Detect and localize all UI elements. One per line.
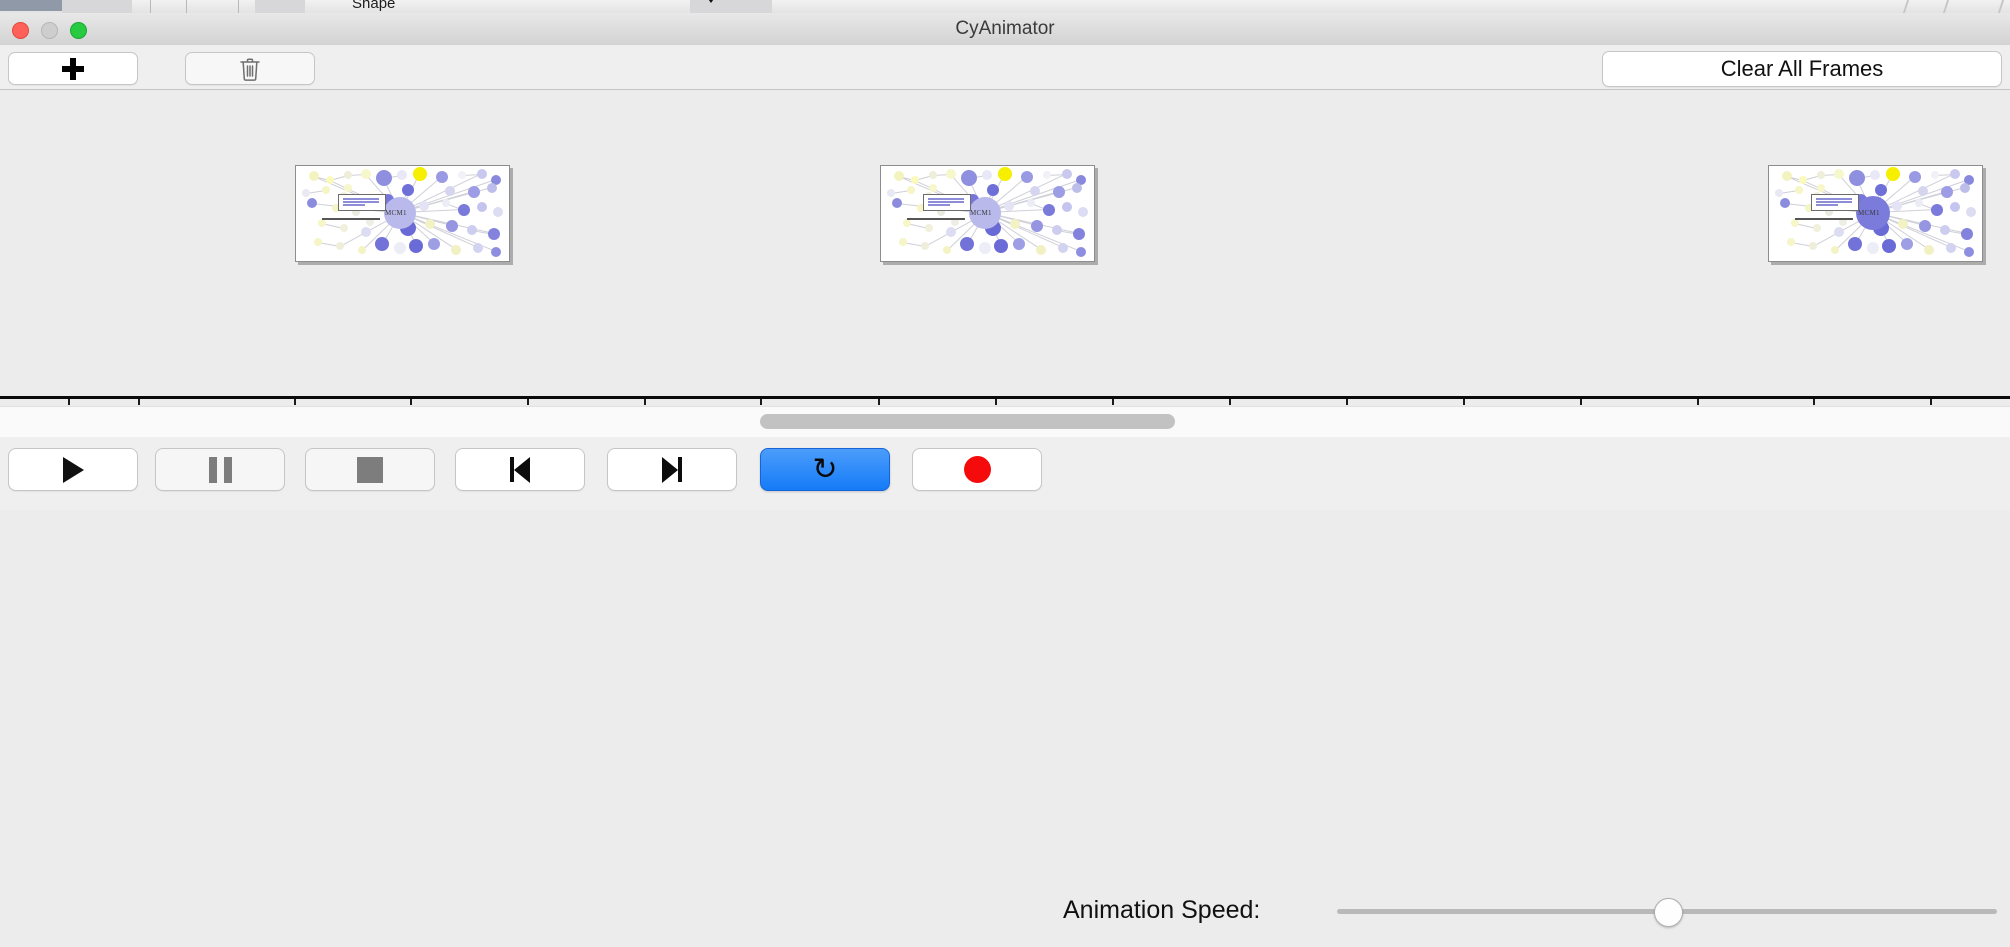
graph-node	[361, 169, 371, 179]
axis-tick-minor	[410, 399, 412, 405]
background-divider	[150, 0, 151, 13]
timeline-panel[interactable]: 2131415161718 Seconds MCM1MCM1MCM1	[0, 90, 2010, 405]
graph-node	[477, 169, 487, 179]
graph-node	[493, 207, 503, 217]
graph-node	[892, 198, 902, 208]
graph-callout	[1811, 194, 1859, 211]
pause-icon	[209, 457, 232, 483]
graph-node	[309, 171, 319, 181]
stop-button[interactable]	[305, 448, 435, 491]
background-window-chunk	[62, 0, 132, 13]
graph-node	[425, 219, 435, 229]
graph-callout	[338, 194, 386, 211]
play-button[interactable]	[8, 448, 138, 491]
graph-node	[1931, 171, 1939, 179]
graph-node	[1004, 201, 1014, 211]
callout-text-line	[928, 201, 964, 203]
keyframe-thumbnail[interactable]: MCM1	[880, 165, 1095, 262]
graph-node	[1924, 245, 1934, 255]
graph-node	[1961, 228, 1973, 240]
skip-forward-icon	[662, 457, 682, 483]
graph-node	[413, 167, 427, 181]
graph-node	[1058, 243, 1068, 253]
background-window-chunk	[255, 0, 305, 13]
graph-node	[1919, 220, 1931, 232]
transport-bar: ↻ Animation Speed:	[0, 437, 2010, 510]
graph-node	[1901, 238, 1913, 250]
graph-node	[344, 184, 352, 192]
graph-annotation	[907, 218, 965, 220]
graph-node	[961, 170, 977, 186]
graph-node	[946, 227, 956, 237]
graph-node	[1062, 202, 1072, 212]
graph-node	[451, 245, 461, 255]
graph-node	[943, 246, 951, 254]
graph-hub-label: MCM1	[1858, 209, 1880, 217]
network-graph: MCM1	[881, 166, 1094, 261]
axis-tick-minor	[1930, 399, 1932, 405]
timeline-scrollbar[interactable]	[0, 406, 2010, 438]
graph-node	[436, 171, 448, 183]
graph-node	[491, 247, 501, 257]
graph-node	[394, 242, 406, 254]
axis-tick-major	[995, 399, 997, 405]
axis-tick-minor	[644, 399, 646, 405]
graph-node	[1053, 186, 1065, 198]
graph-node	[446, 220, 458, 232]
background-divider	[1943, 0, 1949, 13]
graph-node	[340, 224, 348, 232]
graph-node	[1950, 202, 1960, 212]
title-bar[interactable]: CyAnimator	[0, 13, 2010, 46]
graph-node	[1909, 171, 1921, 183]
graph-node	[1918, 186, 1928, 196]
graph-node	[1052, 225, 1062, 235]
graph-node	[987, 184, 999, 196]
graph-node	[428, 238, 440, 250]
background-window-chunk	[690, 0, 772, 13]
graph-node	[1834, 227, 1844, 237]
graph-node	[929, 171, 937, 179]
graph-annotation	[1795, 218, 1853, 220]
graph-node	[1031, 220, 1043, 232]
graph-node	[1886, 167, 1900, 181]
graph-node	[1848, 237, 1862, 251]
graph-node	[1021, 171, 1033, 183]
graph-node	[1849, 170, 1865, 186]
graph-node	[1030, 186, 1040, 196]
graph-node	[1078, 207, 1088, 217]
axis-tick-major	[760, 399, 762, 405]
graph-node	[1940, 225, 1950, 235]
graph-node	[998, 167, 1012, 181]
skip-back-icon	[510, 457, 530, 483]
axis-tick-major	[1697, 399, 1699, 405]
graph-node	[473, 243, 483, 253]
graph-node	[894, 171, 904, 181]
graph-node	[361, 227, 371, 237]
graph-node	[994, 239, 1008, 253]
graph-node	[336, 242, 344, 250]
graph-node	[326, 176, 334, 184]
window-title: CyAnimator	[0, 13, 2010, 45]
callout-text-line	[1816, 198, 1852, 200]
graph-node	[1875, 184, 1887, 196]
graph-node	[458, 171, 466, 179]
record-button[interactable]	[912, 448, 1042, 491]
graph-node	[318, 219, 326, 227]
axis-tick-minor	[878, 399, 880, 405]
graph-node	[1799, 176, 1807, 184]
play-icon	[63, 457, 84, 483]
skip-to-start-button[interactable]	[455, 448, 585, 491]
axis-tick-major	[1463, 399, 1465, 405]
background-caret-icon	[706, 0, 716, 3]
graph-node	[468, 186, 480, 198]
axis-tick-major	[294, 399, 296, 405]
graph-node	[899, 238, 907, 246]
axis-tick-major	[1229, 399, 1231, 405]
graph-node	[911, 176, 919, 184]
graph-node	[1013, 238, 1025, 250]
callout-text-line	[1816, 201, 1852, 203]
graph-node	[946, 169, 956, 179]
stop-icon	[357, 457, 383, 483]
callout-text-line	[928, 204, 950, 206]
graph-node	[1787, 238, 1795, 246]
background-divider	[1903, 0, 1909, 13]
graph-node	[376, 170, 392, 186]
skip-to-end-button[interactable]	[607, 448, 737, 491]
graph-node	[979, 242, 991, 254]
graph-node	[442, 199, 450, 207]
axis-tick-minor	[1813, 399, 1815, 405]
trash-icon	[239, 57, 261, 81]
graph-node	[307, 198, 317, 208]
graph-node	[1960, 183, 1970, 193]
keyframe-thumbnail[interactable]: MCM1	[1768, 165, 1983, 262]
graph-node	[929, 184, 937, 192]
callout-text-line	[1816, 204, 1838, 206]
background-window-label: Shape	[352, 0, 395, 12]
graph-node	[445, 186, 455, 196]
graph-node	[1931, 204, 1943, 216]
graph-node	[344, 171, 352, 179]
graph-node	[1964, 247, 1974, 257]
graph-node	[921, 242, 929, 250]
graph-node	[1795, 186, 1803, 194]
graph-node	[1831, 246, 1839, 254]
graph-node	[302, 189, 310, 197]
graph-node	[1027, 199, 1035, 207]
graph-node	[322, 186, 330, 194]
network-graph: MCM1	[296, 166, 509, 261]
pause-button[interactable]	[155, 448, 285, 491]
graph-node	[907, 186, 915, 194]
graph-node	[887, 189, 895, 197]
graph-node	[1062, 169, 1072, 179]
graph-node	[1950, 169, 1960, 179]
graph-node	[1791, 219, 1799, 227]
graph-node	[397, 170, 407, 180]
graph-node	[1867, 242, 1879, 254]
graph-node	[314, 238, 322, 246]
graph-node	[1834, 169, 1844, 179]
graph-node	[1898, 219, 1908, 229]
axis-tick-major	[527, 399, 529, 405]
cyanimator-window: Shape CyAnimator Clear All Frames 213141…	[0, 0, 2010, 510]
graph-node	[1941, 186, 1953, 198]
graph-node	[488, 228, 500, 240]
network-graph: MCM1	[1769, 166, 1982, 261]
graph-annotation	[322, 218, 380, 220]
graph-node	[903, 219, 911, 227]
graph-node	[925, 224, 933, 232]
callout-text-line	[343, 204, 365, 206]
graph-node	[477, 202, 487, 212]
graph-callout	[923, 194, 971, 211]
graph-node	[1073, 228, 1085, 240]
graph-node	[467, 225, 477, 235]
graph-node	[1036, 245, 1046, 255]
animation-speed-slider[interactable]	[1337, 874, 1997, 947]
graph-node	[960, 237, 974, 251]
background-divider	[1998, 0, 2004, 13]
graph-node	[409, 239, 423, 253]
graph-node	[1946, 243, 1956, 253]
graph-node	[487, 183, 497, 193]
background-window-strip: Shape	[0, 0, 2010, 13]
record-icon	[964, 456, 991, 483]
graph-node	[1882, 239, 1896, 253]
plus-icon	[62, 58, 84, 80]
graph-node	[1780, 198, 1790, 208]
graph-node	[1915, 199, 1923, 207]
graph-node	[1782, 171, 1792, 181]
axis-tick-minor	[1346, 399, 1348, 405]
animation-speed-label: Animation Speed:	[1063, 874, 1260, 947]
graph-node	[1010, 219, 1020, 229]
background-divider	[238, 0, 239, 13]
loop-button[interactable]: ↻	[760, 448, 890, 491]
callout-text-line	[343, 201, 379, 203]
delete-frame-button[interactable]	[185, 52, 315, 85]
graph-node	[458, 204, 470, 216]
graph-node	[1076, 247, 1086, 257]
graph-node	[1813, 224, 1821, 232]
toolbar: Clear All Frames	[0, 45, 2010, 90]
graph-node	[982, 170, 992, 180]
add-frame-button[interactable]	[8, 52, 138, 85]
graph-node	[1809, 242, 1817, 250]
timeline-axis	[0, 396, 2010, 399]
graph-node	[1043, 204, 1055, 216]
graph-node	[375, 237, 389, 251]
keyframe-thumbnail[interactable]: MCM1	[295, 165, 510, 262]
graph-node	[1870, 170, 1880, 180]
axis-tick-major	[68, 399, 70, 405]
graph-hub-label: MCM1	[385, 209, 407, 217]
graph-node	[1817, 184, 1825, 192]
background-divider	[186, 0, 187, 13]
callout-text-line	[343, 198, 379, 200]
axis-tick-minor	[138, 399, 140, 405]
graph-node	[1043, 171, 1051, 179]
axis-tick-minor	[1112, 399, 1114, 405]
graph-node	[419, 201, 429, 211]
graph-node	[1775, 189, 1783, 197]
graph-hub-label: MCM1	[970, 209, 992, 217]
callout-text-line	[928, 198, 964, 200]
clear-all-frames-button[interactable]: Clear All Frames	[1602, 51, 2002, 87]
graph-node	[1892, 201, 1902, 211]
background-window-chunk	[0, 0, 62, 11]
slider-thumb[interactable]	[1654, 898, 1683, 927]
axis-tick-minor	[1580, 399, 1582, 405]
scrollbar-thumb[interactable]	[760, 414, 1175, 429]
graph-node	[402, 184, 414, 196]
graph-node	[1817, 171, 1825, 179]
graph-node	[1966, 207, 1976, 217]
loop-icon: ↻	[812, 455, 837, 485]
graph-node	[1072, 183, 1082, 193]
graph-node	[358, 246, 366, 254]
